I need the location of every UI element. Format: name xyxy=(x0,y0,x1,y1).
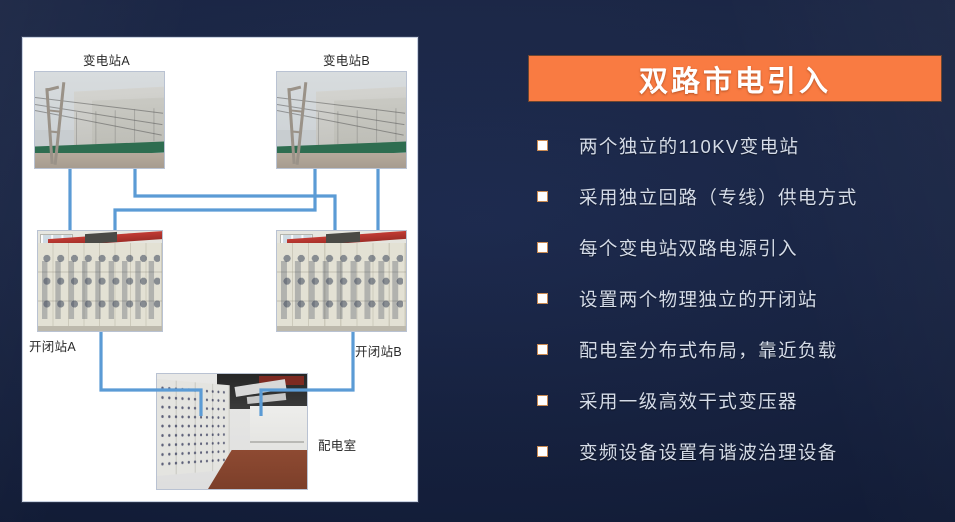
square-bullet-icon xyxy=(537,191,548,202)
switchyard-b-photo xyxy=(276,230,407,332)
page-title: 双路市电引入 xyxy=(639,58,831,100)
node-label-switchyard-a: 开闭站A xyxy=(29,336,76,355)
list-item-label: 采用独立回路（专线）供电方式 xyxy=(579,184,858,210)
list-item-label: 配电室分布式布局，靠近负载 xyxy=(579,337,838,363)
node-label-substation-a: 变电站A xyxy=(83,50,130,69)
wire-substation-b-to-switchyard-a xyxy=(115,169,315,230)
square-bullet-icon xyxy=(537,293,548,304)
square-bullet-icon xyxy=(537,140,548,151)
slide-canvas: 变电站A 变电站B 开闭站A 开闭站B 配电室 xyxy=(0,0,955,522)
list-item: 设置两个物理独立的开闭站 xyxy=(528,273,948,324)
list-item-label: 采用一级高效干式变压器 xyxy=(579,388,798,414)
list-item: 配电室分布式布局，靠近负载 xyxy=(528,324,948,375)
square-bullet-icon xyxy=(537,446,548,457)
list-item: 两个独立的110KV变电站 xyxy=(528,120,948,171)
wire-substation-a-to-switchyard-b xyxy=(135,169,335,230)
feature-bullet-list: 两个独立的110KV变电站 采用独立回路（专线）供电方式 每个变电站双路电源引入… xyxy=(528,120,948,477)
substation-a-photo xyxy=(34,71,165,169)
node-label-switchyard-b: 开闭站B xyxy=(355,341,402,360)
square-bullet-icon xyxy=(537,344,548,355)
power-topology-diagram: 变电站A 变电站B 开闭站A 开闭站B 配电室 xyxy=(22,37,418,502)
title-banner: 双路市电引入 xyxy=(528,55,942,102)
switchyard-a-photo xyxy=(37,230,163,332)
node-label-distribution-room: 配电室 xyxy=(318,435,356,454)
list-item: 采用独立回路（专线）供电方式 xyxy=(528,171,948,222)
list-item-label: 两个独立的110KV变电站 xyxy=(579,133,799,159)
distribution-room-photo xyxy=(156,373,308,490)
square-bullet-icon xyxy=(537,242,548,253)
list-item-label: 每个变电站双路电源引入 xyxy=(579,235,798,261)
list-item: 采用一级高效干式变压器 xyxy=(528,375,948,426)
square-bullet-icon xyxy=(537,395,548,406)
node-label-substation-b: 变电站B xyxy=(323,50,370,69)
list-item: 每个变电站双路电源引入 xyxy=(528,222,948,273)
list-item: 变频设备设置有谐波治理设备 xyxy=(528,426,948,477)
substation-b-photo xyxy=(276,71,407,169)
list-item-label: 变频设备设置有谐波治理设备 xyxy=(579,439,838,465)
list-item-label: 设置两个物理独立的开闭站 xyxy=(579,286,818,312)
